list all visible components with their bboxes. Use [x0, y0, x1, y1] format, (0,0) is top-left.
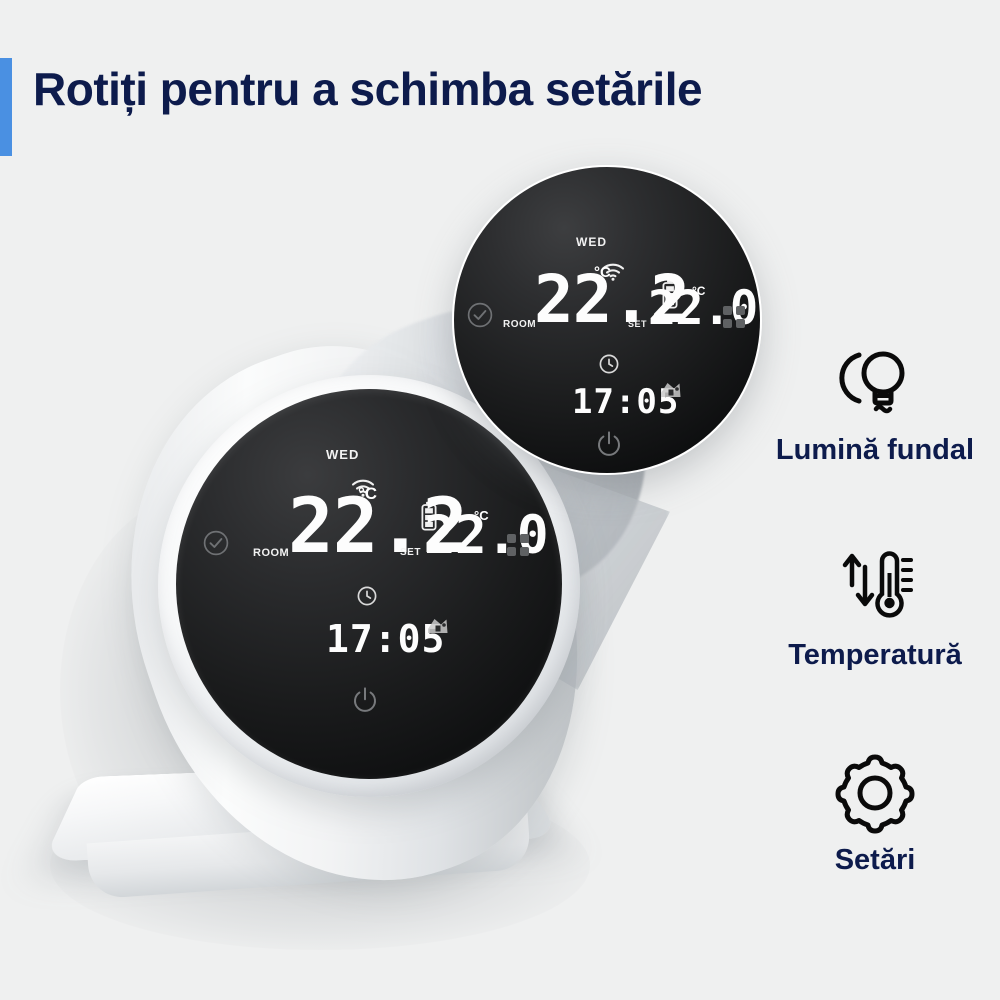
set-unit: °C [474, 509, 489, 522]
feature-list: Lumină fundal Temperatură [750, 340, 1000, 900]
feature-settings: Setări [750, 750, 1000, 877]
thermometer-icon [832, 545, 918, 631]
feature-label-settings: Setări [750, 844, 1000, 877]
feature-temperature: Temperatură [750, 545, 1000, 672]
grid-menu-icon-magnified[interactable] [722, 305, 746, 329]
room-label-magnified: ROOM [503, 319, 536, 330]
set-label-magnified: SET [628, 319, 647, 329]
house-icon-magnified [659, 379, 683, 401]
check-circle-icon-magnified[interactable] [466, 301, 494, 329]
display-content-magnified: WED ROOM 22.2 °C SET [454, 167, 760, 473]
room-unit: °C [358, 485, 377, 502]
clock-icon-magnified [598, 353, 620, 375]
clock-icon [356, 585, 378, 607]
set-unit-magnified: °C [692, 285, 705, 297]
magnified-display: WED ROOM 22.2 °C SET [452, 165, 762, 475]
set-label: SET [400, 547, 421, 558]
grid-menu-icon[interactable] [506, 533, 530, 557]
room-label: ROOM [253, 547, 289, 559]
power-icon[interactable] [350, 685, 380, 715]
room-unit-magnified: °C [594, 265, 611, 280]
day-of-week: WED [326, 447, 359, 462]
day-of-week-magnified: WED [576, 235, 607, 249]
marketing-image: Rotiți pentru a schimba setările WED [0, 0, 1000, 1000]
accent-bar [0, 58, 12, 156]
lightbulb-icon [832, 340, 918, 426]
gear-icon [832, 750, 918, 836]
feature-label-backlight: Lumină fundal [750, 434, 1000, 467]
check-circle-icon[interactable] [202, 529, 230, 557]
header: Rotiți pentru a schimba setările [0, 58, 760, 156]
page-title: Rotiți pentru a schimba setările [33, 62, 702, 116]
feature-label-temperature: Temperatură [750, 639, 1000, 672]
power-icon-magnified[interactable] [594, 429, 624, 459]
feature-backlight: Lumină fundal [750, 340, 1000, 467]
product-photo: WED [40, 160, 740, 900]
house-icon [426, 615, 450, 637]
